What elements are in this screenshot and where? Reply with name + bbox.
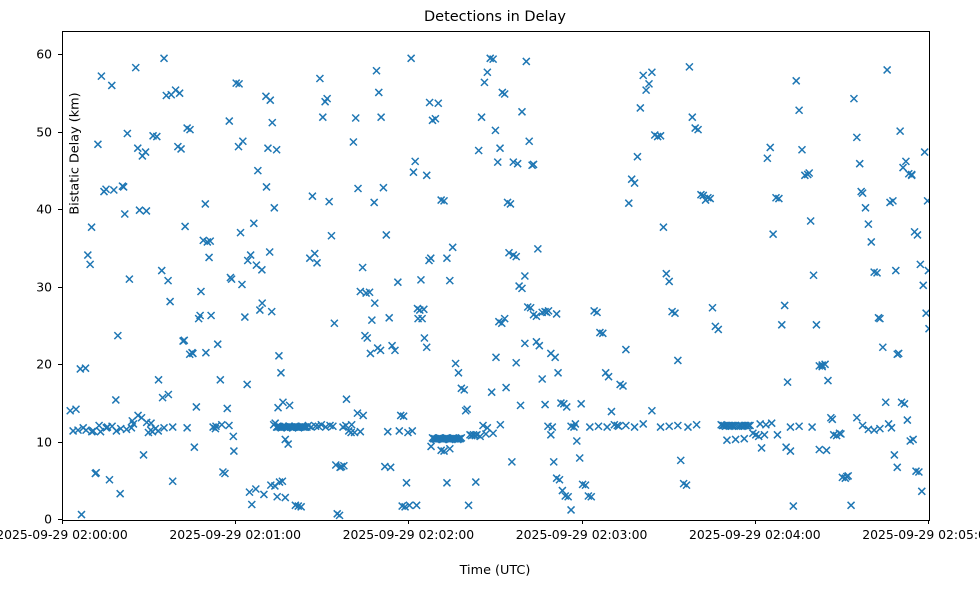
y-tick (58, 209, 62, 210)
x-tick-label: 2025-09-29 02:02:00 (343, 527, 475, 542)
y-tick-label: 40 (0, 202, 52, 217)
x-tick (755, 520, 756, 524)
y-tick-label: 60 (0, 47, 52, 62)
y-tick-label: 30 (0, 279, 52, 294)
y-tick-label: 20 (0, 357, 52, 372)
chart-title: Detections in Delay (62, 8, 928, 26)
scatter-series (63, 32, 929, 520)
x-tick (408, 520, 409, 524)
y-tick-label: 0 (0, 512, 52, 527)
y-tick (58, 442, 62, 443)
x-tick (928, 520, 929, 524)
x-tick-label: 2025-09-29 02:00:00 (0, 527, 128, 542)
y-tick (58, 132, 62, 133)
y-tick-label: 50 (0, 124, 52, 139)
y-tick (58, 364, 62, 365)
y-tick (58, 519, 62, 520)
y-tick-label: 10 (0, 434, 52, 449)
x-axis-label: Time (UTC) (62, 563, 928, 578)
x-tick (582, 520, 583, 524)
x-tick-label: 2025-09-29 02:03:00 (516, 527, 648, 542)
y-tick (58, 54, 62, 55)
x-tick-label: 2025-09-29 02:04:00 (689, 527, 821, 542)
y-axis-label: Bistatic Delay (km) (68, 24, 83, 284)
x-tick (62, 520, 63, 524)
matplotlib-figure: Detections in Delay 2025-09-29 02:00:002… (0, 0, 980, 590)
x-tick-label: 2025-09-29 02:05:00 (862, 527, 980, 542)
y-tick (58, 287, 62, 288)
plot-area (62, 31, 930, 521)
x-tick (235, 520, 236, 524)
x-tick-label: 2025-09-29 02:01:00 (169, 527, 301, 542)
